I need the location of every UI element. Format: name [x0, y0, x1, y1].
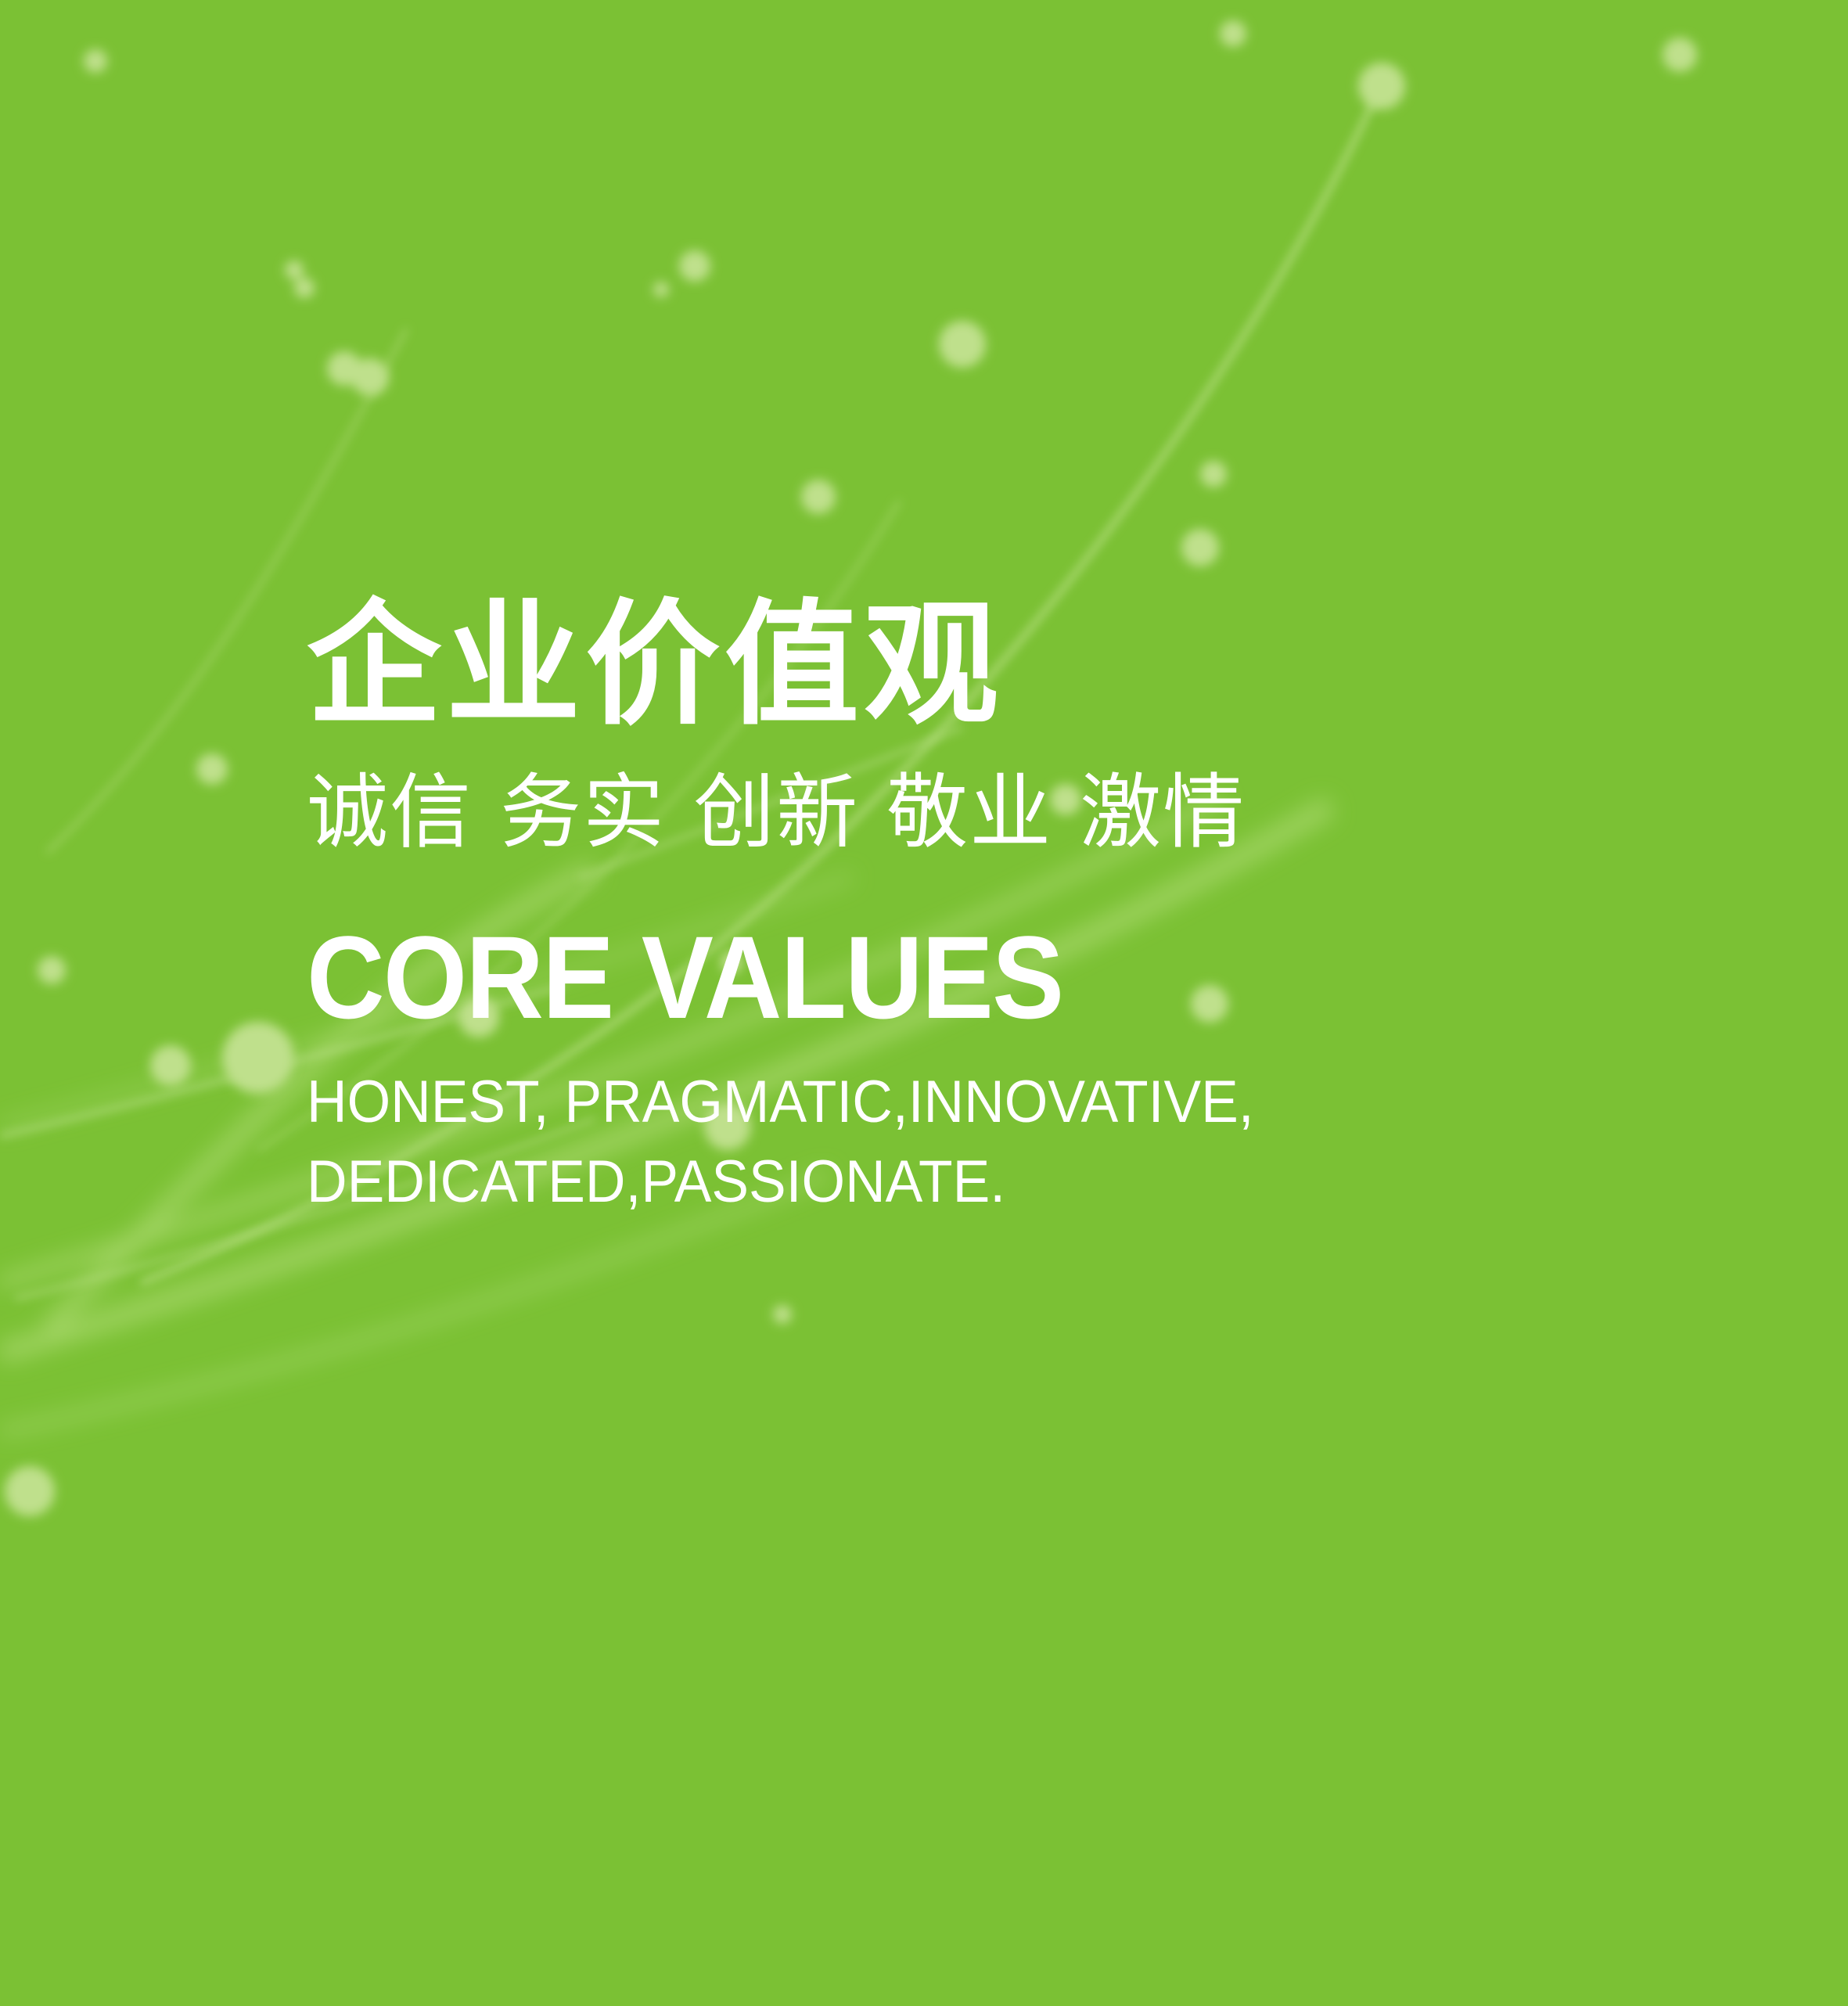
page-title-chinese: 企业价值观	[307, 588, 1637, 742]
subtitle-chinese-values: 诚信 务实 创新 敬业 激情	[307, 762, 1637, 862]
body-line-1: HONEST, PRAGMATIC,INNOVATIVE,	[307, 1062, 1557, 1142]
heading-english: CORE VALUES	[307, 919, 1530, 1036]
body-english-values: HONEST, PRAGMATIC,INNOVATIVE, DEDICATED,…	[307, 1062, 1557, 1222]
core-values-poster: 企业价值观 诚信 务实 创新 敬业 激情 CORE VALUES HONEST,…	[0, 0, 1848, 2006]
poster-text-block: 企业价值观 诚信 务实 创新 敬业 激情 CORE VALUES HONEST,…	[307, 588, 1637, 1222]
body-line-2: DEDICATED,PASSIONATE.	[307, 1142, 1557, 1222]
